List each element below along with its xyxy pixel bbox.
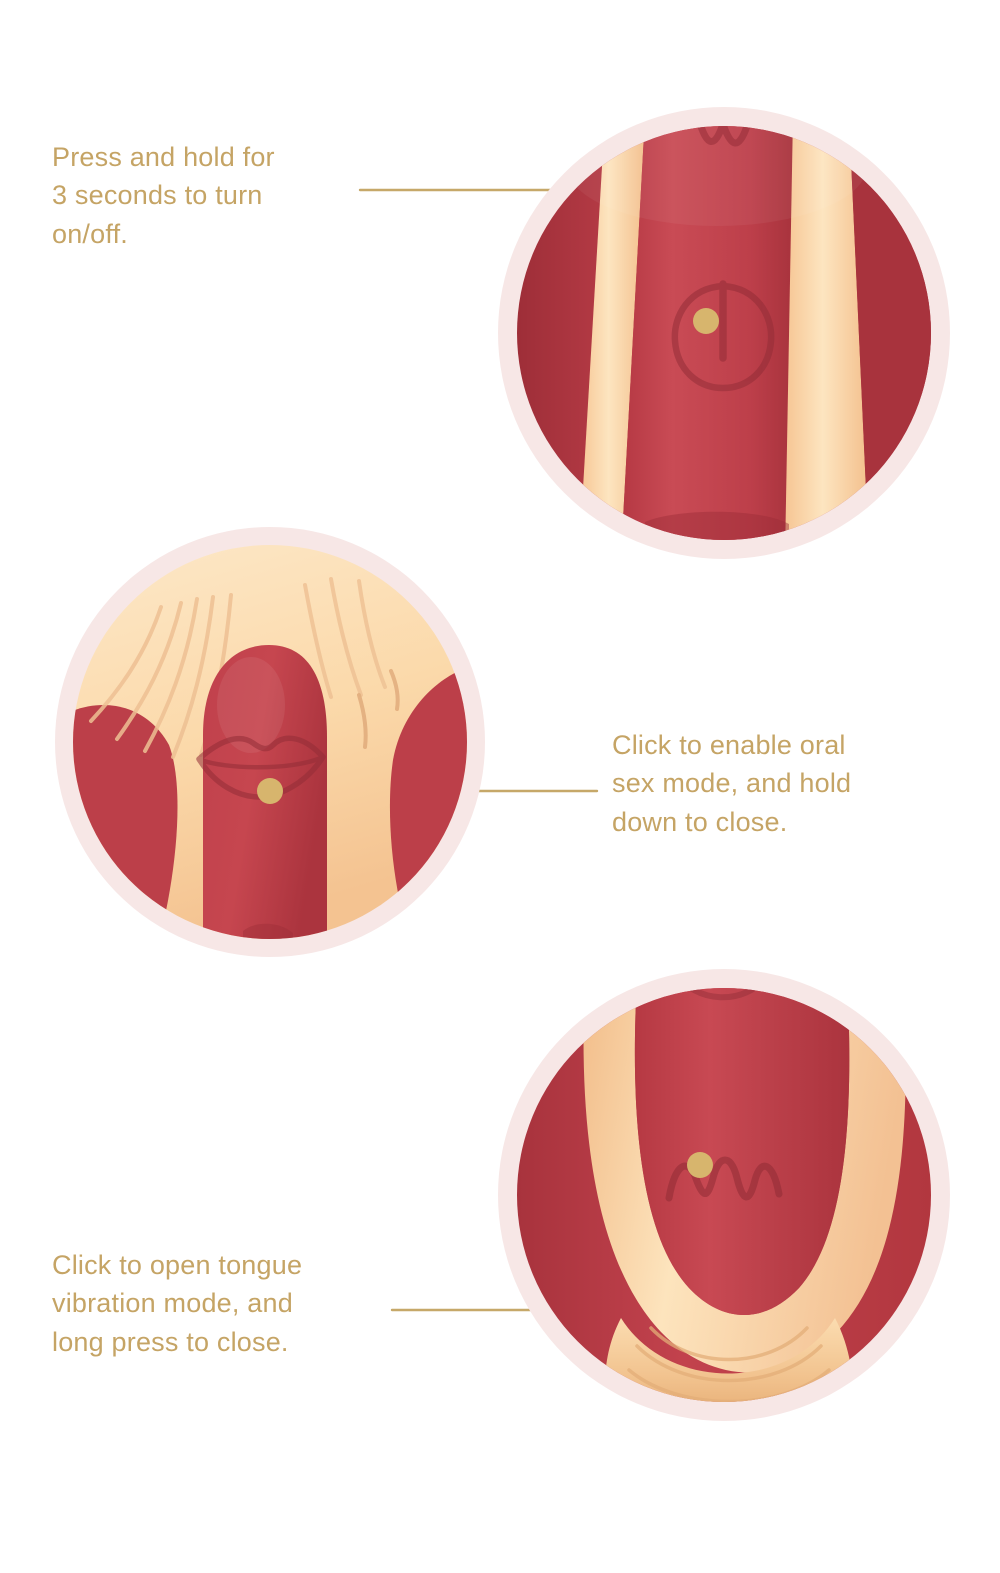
- callout-text-oral: Click to enable oral sex mode, and hold …: [612, 726, 952, 841]
- power-button-closeup-illustration: [517, 126, 931, 540]
- power-button-marker[interactable]: [693, 308, 719, 334]
- bubble-oral: [55, 527, 485, 957]
- bubble-power: [498, 107, 950, 559]
- bubble-power-photo: [517, 126, 931, 540]
- vibration-mode-button-closeup-illustration: [517, 988, 931, 1402]
- oral-mode-button-marker[interactable]: [257, 778, 283, 804]
- infographic-page: Press and hold for 3 seconds to turn on/…: [0, 0, 1000, 1573]
- bubble-vibration: [498, 969, 950, 1421]
- oral-mode-button-closeup-illustration: [73, 545, 467, 939]
- bubble-vibration-photo: [517, 988, 931, 1402]
- vibration-mode-button-marker[interactable]: [687, 1152, 713, 1178]
- bubble-oral-photo: [73, 545, 467, 939]
- callout-text-power: Press and hold for 3 seconds to turn on/…: [52, 138, 382, 253]
- callout-text-vibration: Click to open tongue vibration mode, and…: [52, 1246, 397, 1361]
